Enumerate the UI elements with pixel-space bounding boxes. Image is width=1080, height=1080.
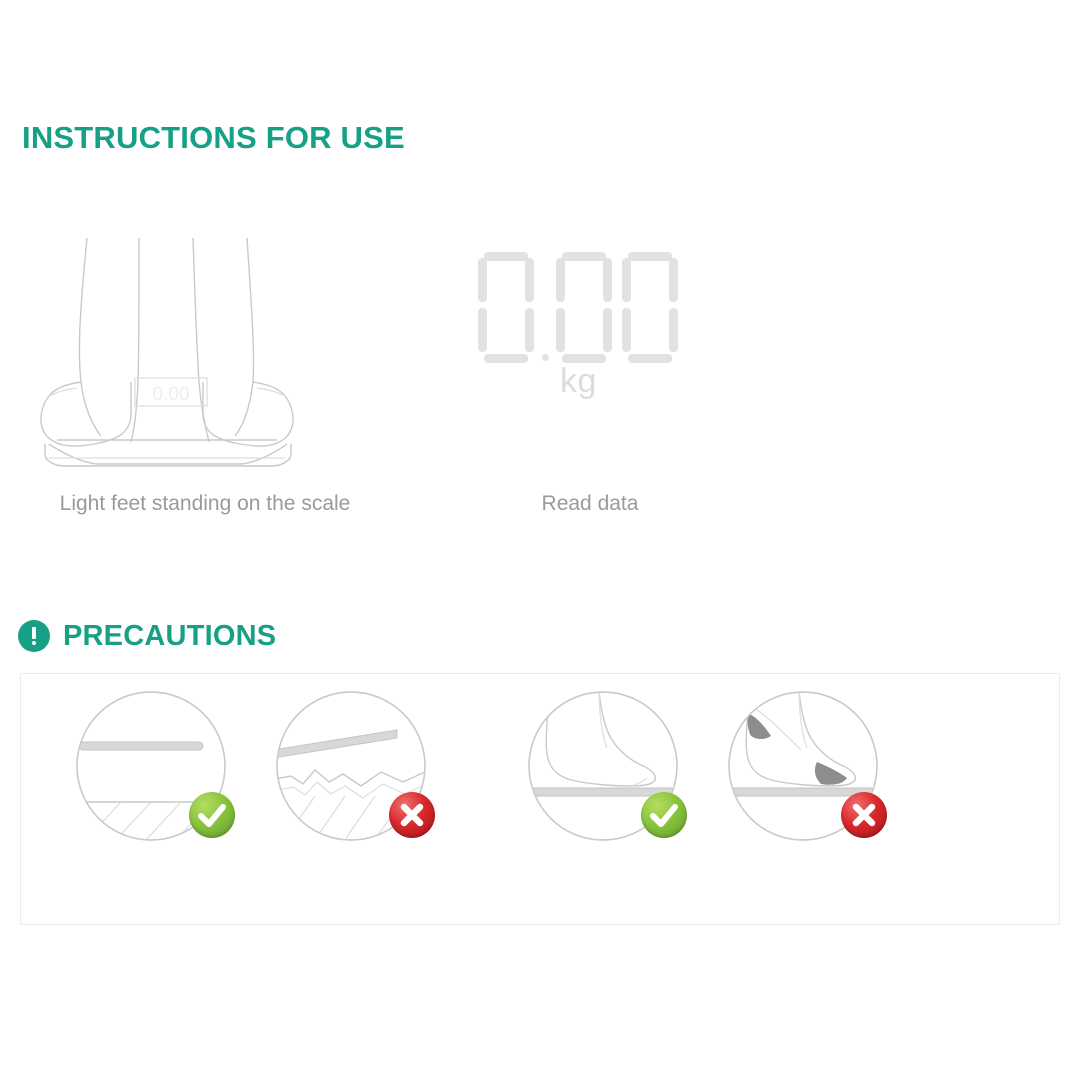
precaution-item-2 bbox=[269, 684, 459, 874]
instruction-step-1-caption: Light feet standing on the scale bbox=[35, 492, 375, 516]
check-icon bbox=[641, 792, 687, 838]
scale-on-uneven-carpet-icon bbox=[269, 684, 459, 879]
instruction-step-2: kg Read data bbox=[420, 230, 760, 540]
lcd-unit-label: kg bbox=[560, 362, 597, 401]
instruction-step-2-caption: Read data bbox=[420, 492, 760, 516]
instruction-step-1: 0.00 Light feet standing on the scale bbox=[35, 230, 375, 540]
page-title: INSTRUCTIONS FOR USE bbox=[22, 120, 405, 156]
warning-exclamation-icon bbox=[18, 620, 50, 652]
precautions-panel bbox=[20, 673, 1060, 925]
feet-on-scale-icon: 0.00 bbox=[35, 230, 375, 480]
bare-foot-on-scale-icon bbox=[521, 684, 711, 879]
cross-icon bbox=[841, 792, 887, 838]
lcd-digits bbox=[478, 252, 688, 377]
lcd-display-icon: kg bbox=[420, 230, 760, 480]
precaution-item-3 bbox=[521, 684, 711, 874]
precautions-title: PRECAUTIONS bbox=[63, 620, 276, 653]
instruction-steps: 0.00 Light feet standing on the scale bbox=[0, 230, 1080, 540]
check-icon bbox=[189, 792, 235, 838]
precautions-items bbox=[21, 674, 1061, 926]
precaution-item-4 bbox=[721, 684, 911, 874]
cross-icon bbox=[389, 792, 435, 838]
sock-foot-on-scale-icon bbox=[721, 684, 911, 879]
scale-on-hard-floor-icon bbox=[69, 684, 259, 879]
precautions-header: PRECAUTIONS bbox=[18, 616, 276, 656]
precaution-item-1 bbox=[69, 684, 259, 874]
scale-readout-text: 0.00 bbox=[153, 384, 190, 405]
